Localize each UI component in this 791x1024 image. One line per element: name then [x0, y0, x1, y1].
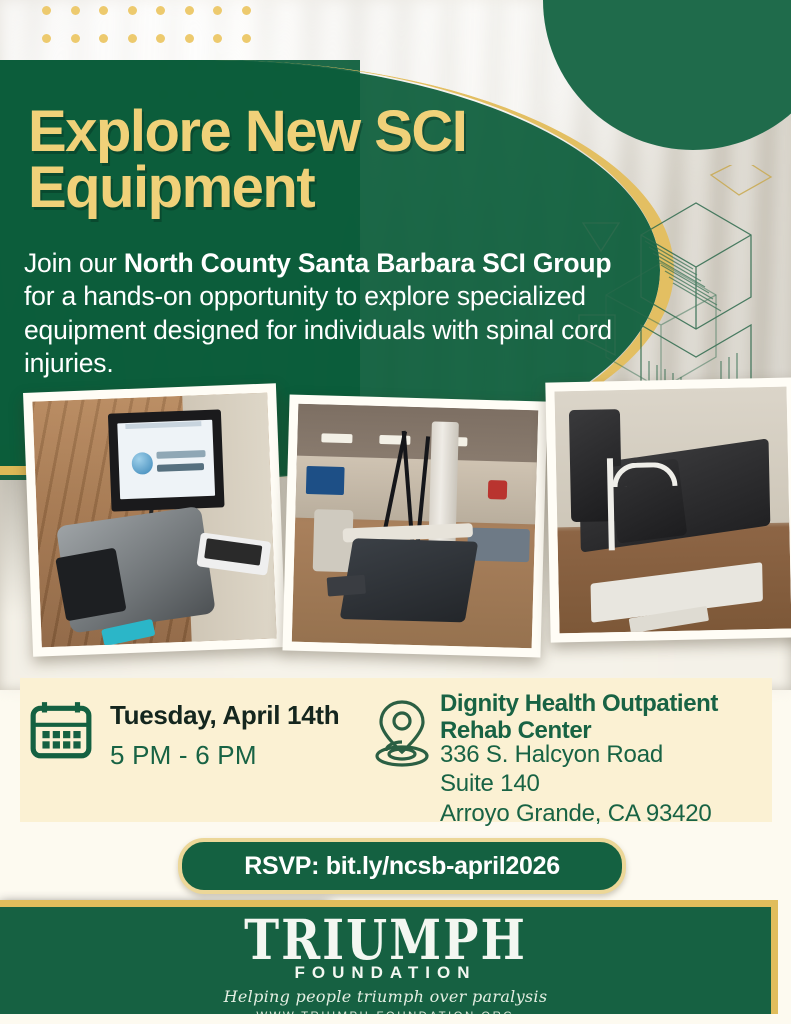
flyer-canvas: Explore New SCI Equipment Join our North… — [0, 0, 791, 1024]
map-pin-icon — [372, 696, 432, 770]
address-line-2: Suite 140 — [440, 769, 780, 798]
foundation-wordmark: FOUNDATION — [0, 963, 771, 983]
subtitle-rest: for a hands-on opportunity to explore sp… — [24, 281, 612, 378]
event-date: Tuesday, April 14th — [110, 700, 339, 731]
event-address: 336 S. Halcyon Road Suite 140 Arroyo Gra… — [440, 740, 780, 828]
title-line-1: Explore New SCI — [28, 104, 628, 160]
venue-line-1: Dignity Health Outpatient — [440, 690, 770, 717]
photo-standing-frame — [545, 377, 791, 642]
subtitle-text: Join our North County Santa Barbara SCI … — [24, 247, 624, 381]
rsvp-label: RSVP: bit.ly/ncsb-april2026 — [244, 852, 560, 881]
event-time: 5 PM - 6 PM — [110, 740, 257, 771]
event-venue: Dignity Health Outpatient Rehab Center — [440, 690, 770, 745]
calendar-icon — [28, 698, 94, 764]
subtitle-group-bold-2: Group — [533, 248, 612, 278]
subtitle-prefix: Join our — [24, 248, 124, 278]
address-line-3: Arroyo Grande, CA 93420 — [440, 799, 780, 828]
photo-fes-bike — [23, 383, 286, 657]
address-line-1: 336 S. Halcyon Road — [440, 740, 780, 769]
subtitle-group-bold-1: North County Santa Barbara SCI — [124, 248, 526, 278]
title-line-2: Equipment — [28, 160, 628, 216]
bottom-edge — [0, 1014, 791, 1024]
photo-treadmill-gym — [282, 394, 547, 657]
page-title: Explore New SCI Equipment — [28, 104, 628, 215]
rsvp-button[interactable]: RSVP: bit.ly/ncsb-april2026 — [178, 838, 626, 894]
footer-tagline: Helping people triumph over paralysis — [0, 987, 771, 1006]
footer-logo-bar: TRIUMPH FOUNDATION Helping people triump… — [0, 900, 778, 1024]
